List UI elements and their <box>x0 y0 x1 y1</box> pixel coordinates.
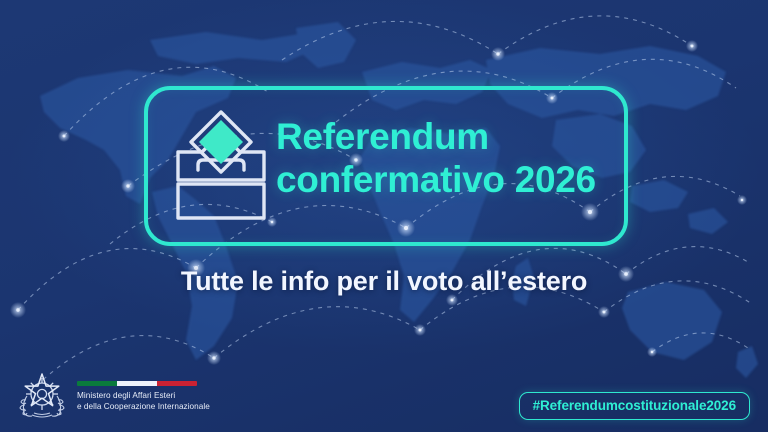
tricolor-red <box>157 381 197 386</box>
headline-line-1: Referendum <box>276 115 596 158</box>
ministry-lockup: Ministero degli Affari Esteri e della Co… <box>18 372 210 421</box>
tricolor-green <box>77 381 117 386</box>
banner-canvas: Referendum confermativo 2026 Tutte le in… <box>0 0 768 432</box>
subtitle: Tutte le info per il voto all’estero <box>0 266 768 297</box>
page-title: Referendum confermativo 2026 <box>276 115 596 201</box>
headline-frame: Referendum confermativo 2026 <box>144 86 628 246</box>
ministry-name-line-2: e della Cooperazione Internazionale <box>77 401 210 412</box>
tricolor-white <box>117 381 157 386</box>
italy-tricolor-bar <box>77 381 197 386</box>
hashtag-badge: #Referendumcostituzionale2026 <box>519 392 750 420</box>
italian-republic-emblem <box>18 372 66 421</box>
ballot-box-icon <box>172 106 270 224</box>
headline-line-2: confermativo 2026 <box>276 158 596 201</box>
ministry-name-line-1: Ministero degli Affari Esteri <box>77 390 210 401</box>
